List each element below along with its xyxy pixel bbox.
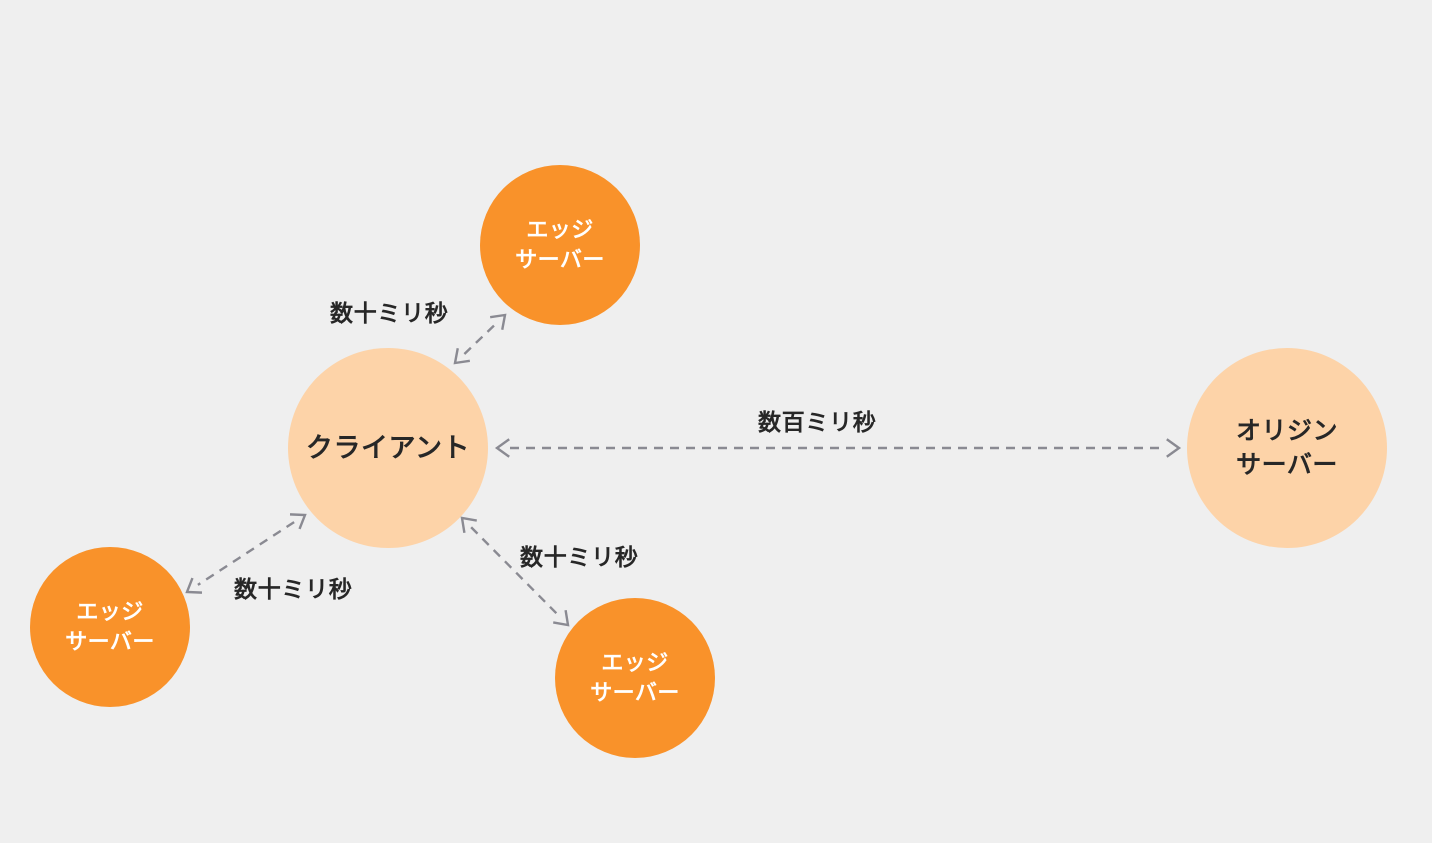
cdn-latency-diagram: エッジサーバークライアントオリジンサーバーエッジサーバーエッジサーバー 数十ミリ…	[0, 0, 1432, 843]
node-label: サーバー	[1236, 448, 1338, 482]
node-edge-server-bottom-left[interactable]: エッジサーバー	[30, 547, 190, 707]
label-latency-edge-bottom-left: 数十ミリ秒	[234, 570, 352, 604]
node-edge-server-top[interactable]: エッジサーバー	[480, 165, 640, 325]
node-origin-server[interactable]: オリジンサーバー	[1187, 348, 1387, 548]
node-label: エッジ	[526, 215, 593, 245]
node-label: サーバー	[515, 245, 605, 275]
arrowhead-forward-client-to-edge-bottom-left	[187, 578, 202, 593]
arrowhead-forward-client-to-origin	[1167, 439, 1179, 456]
arrowhead-reverse-client-to-origin	[497, 439, 509, 456]
node-label: クライアント	[306, 430, 470, 467]
arrowhead-reverse-client-to-edge-bottom-left	[290, 514, 305, 529]
node-edge-server-bottom-center[interactable]: エッジサーバー	[555, 598, 715, 758]
connector-client-to-origin	[497, 439, 1179, 456]
node-label: エッジ	[601, 648, 668, 678]
connector-client-to-edge-top	[455, 315, 505, 363]
label-latency-origin: 数百ミリ秒	[758, 403, 876, 437]
node-label: エッジ	[76, 597, 143, 627]
label-latency-edge-top: 数十ミリ秒	[330, 294, 448, 328]
connector-line-client-to-edge-top	[464, 324, 495, 354]
node-label: サーバー	[65, 627, 155, 657]
node-label: サーバー	[590, 678, 680, 708]
label-latency-edge-bottom-center: 数十ミリ秒	[520, 538, 638, 572]
node-client[interactable]: クライアント	[288, 348, 488, 548]
node-label: オリジン	[1236, 414, 1338, 448]
